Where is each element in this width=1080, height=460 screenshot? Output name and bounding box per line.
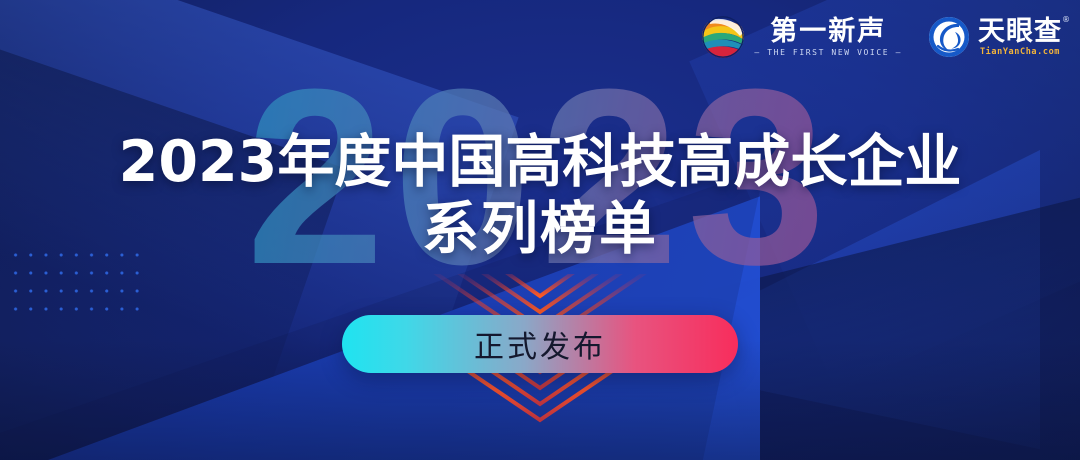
tianyancha-wordmark: 天眼查 ® TianYanCha.com [978, 18, 1062, 57]
page-title: 2023年度中国高科技高成长企业 系列榜单 [0, 133, 1080, 258]
tianyancha-name-text: 天眼查 [978, 16, 1062, 47]
tianyancha-eye-icon [928, 16, 970, 58]
title-line-2: 系列榜单 [0, 200, 1080, 258]
tianyancha-tagline: TianYanCha.com [980, 48, 1060, 57]
release-status-pill[interactable]: 正式发布 [342, 315, 738, 373]
diyixinsheng-tagline: — THE FIRST NEW VOICE — [754, 49, 902, 57]
logo-tianyancha[interactable]: 天眼查 ® TianYanCha.com [928, 16, 1062, 58]
logo-diyixinsheng[interactable]: 第一新声 — THE FIRST NEW VOICE — [700, 14, 902, 60]
registered-trademark-icon: ® [1062, 16, 1071, 24]
tianyancha-name: 天眼查 ® [978, 18, 1062, 45]
release-status-label: 正式发布 [474, 322, 606, 366]
diyixinsheng-globe-icon [700, 14, 746, 60]
promo-banner: 2023 [0, 0, 1080, 460]
diyixinsheng-name: 第一新声 [770, 18, 886, 45]
title-line-1: 2023年度中国高科技高成长企业 [0, 133, 1080, 191]
logo-bar: 第一新声 — THE FIRST NEW VOICE — 天眼查 ® TianY… [700, 14, 1062, 60]
diyixinsheng-wordmark: 第一新声 — THE FIRST NEW VOICE — [754, 18, 902, 57]
